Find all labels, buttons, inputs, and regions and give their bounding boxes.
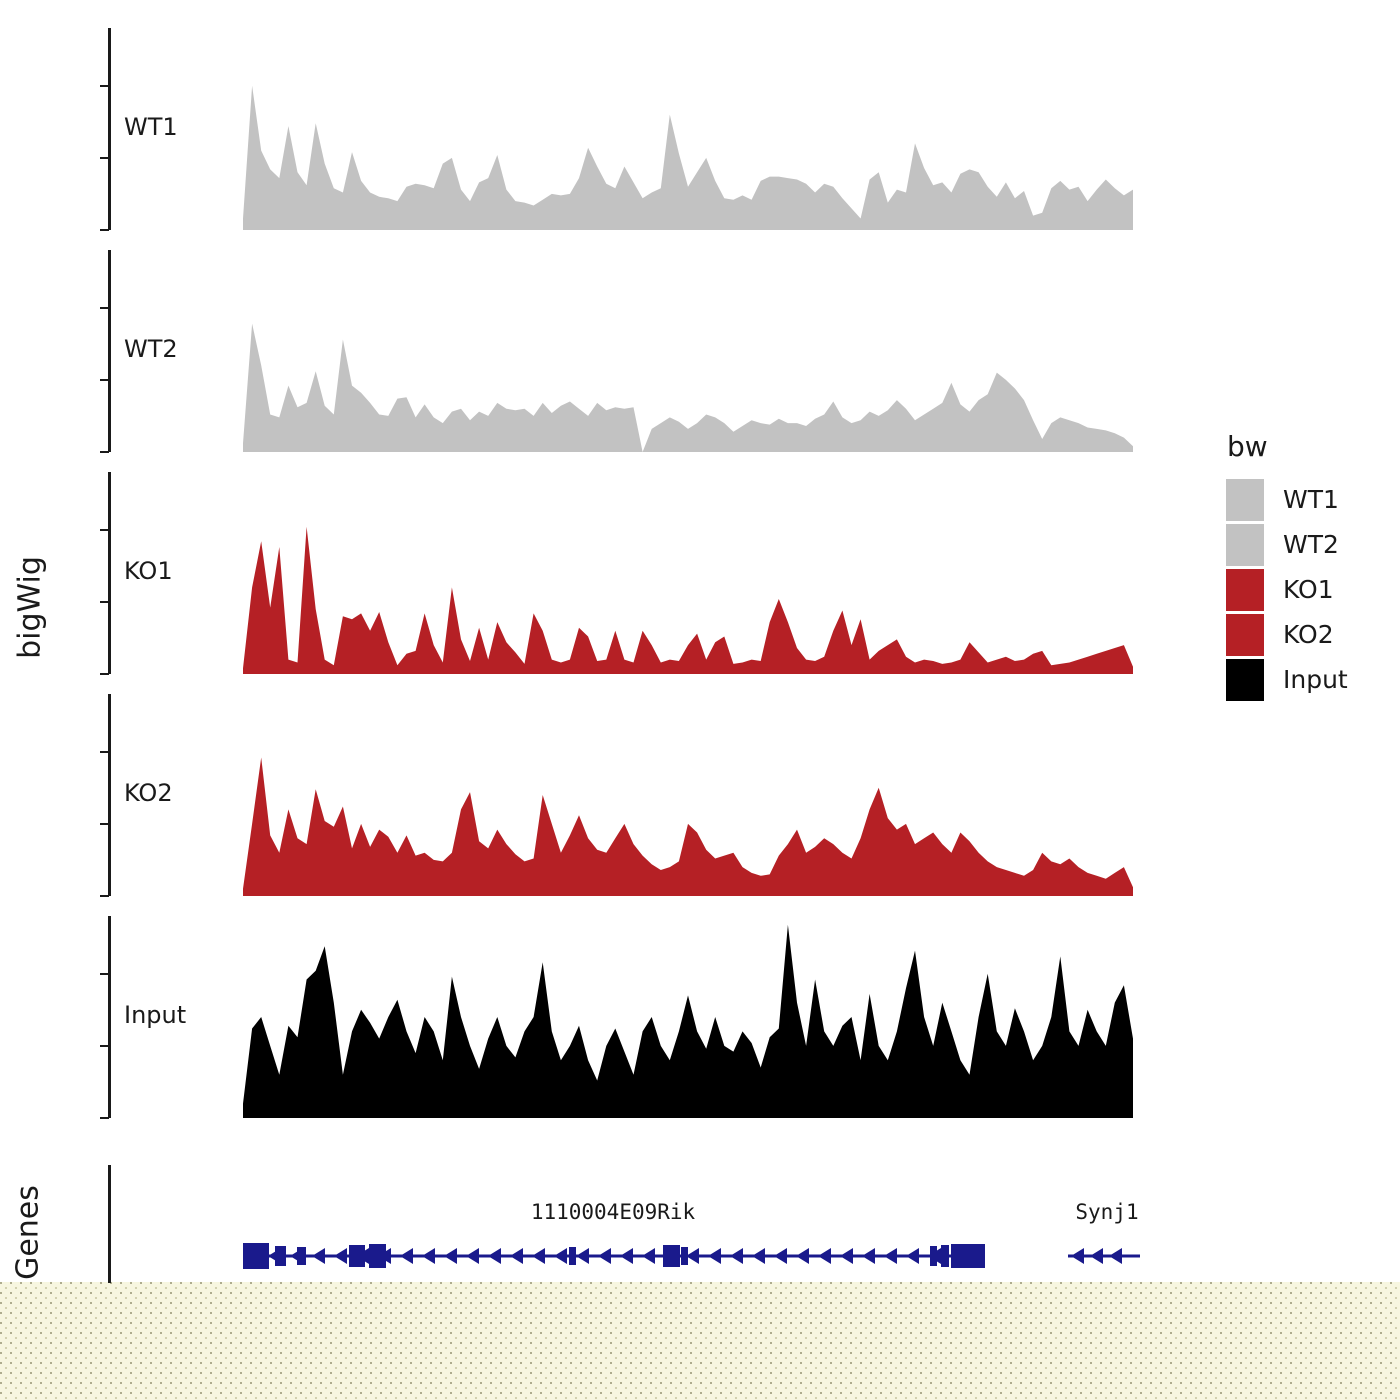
panel-wt1: 0510WT1 [0, 28, 1160, 230]
track-area-input [0, 916, 1160, 1118]
track-area-ko2 [0, 694, 1160, 896]
legend-label: KO1 [1283, 575, 1334, 604]
track-area-ko1 [0, 472, 1160, 674]
genes-track: 1110004E09RikSynj1 [0, 1160, 1200, 1300]
legend-label: Input [1283, 665, 1348, 694]
gene-label-synj1: Synj1 [1075, 1200, 1138, 1224]
legend-item-ko1[interactable]: KO1 [1225, 567, 1395, 612]
legend-item-wt2[interactable]: WT2 [1225, 522, 1395, 567]
legend-item-input[interactable]: Input [1225, 657, 1395, 702]
track-area-wt2 [0, 250, 1160, 452]
legend-label: WT1 [1283, 485, 1339, 514]
legend-item-wt1[interactable]: WT1 [1225, 477, 1395, 522]
legend-swatch [1225, 568, 1265, 612]
legend-swatch [1225, 613, 1265, 657]
legend-label: WT2 [1283, 530, 1339, 559]
legend-swatch [1225, 523, 1265, 567]
panel-input: 0510Input [0, 916, 1160, 1118]
panel-ko2: 0510KO2 [0, 694, 1160, 896]
panel-ko1: 0510KO1 [0, 472, 1160, 674]
legend-label: KO2 [1283, 620, 1334, 649]
panel-wt2: 0510WT2 [0, 250, 1160, 452]
gene-label-1110004e09rik: 1110004E09Rik [531, 1200, 695, 1224]
genes-axis-line [108, 1165, 111, 1283]
legend-swatch [1225, 478, 1265, 522]
track-area-wt1 [0, 28, 1160, 230]
legend-title: bw [1227, 430, 1395, 463]
legend-swatch [1225, 658, 1265, 702]
legend: bw WT1WT2KO1KO2Input [1225, 430, 1395, 702]
genome-browser-figure: bigWig Genes 0510WT10510WT20510KO10510KO… [0, 0, 1400, 1400]
gene-models [0, 1160, 1200, 1300]
legend-item-ko2[interactable]: KO2 [1225, 612, 1395, 657]
